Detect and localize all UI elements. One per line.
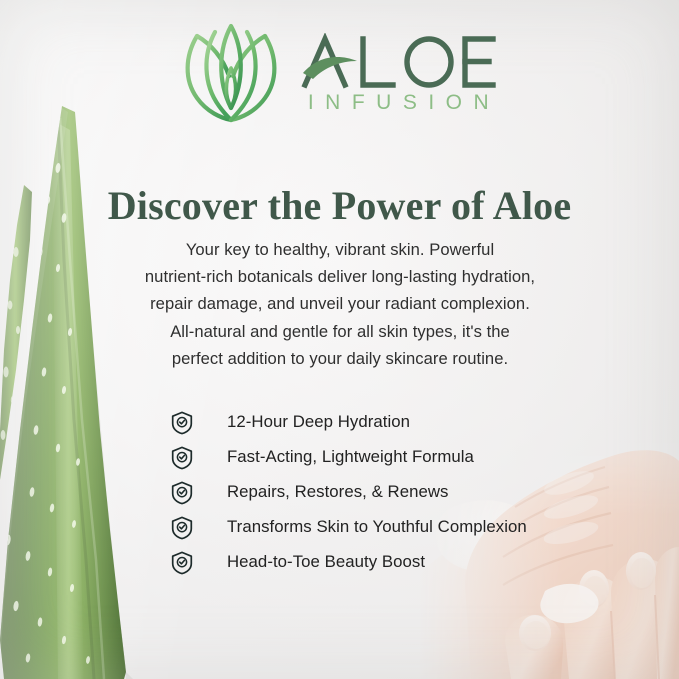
list-item: 12-Hour Deep Hydration xyxy=(171,405,527,440)
shield-check-icon xyxy=(171,516,193,540)
shield-check-icon xyxy=(171,446,193,470)
page-title: Discover the Power of Aloe xyxy=(0,183,679,229)
aloe-lotus-leaf-icon xyxy=(179,22,283,124)
list-item: Transforms Skin to Youthful Complexion xyxy=(171,510,527,545)
description-paragraph: Your key to healthy, vibrant skin. Power… xyxy=(100,236,580,372)
list-item-label: 12-Hour Deep Hydration xyxy=(227,414,410,431)
list-item: Repairs, Restores, & Renews xyxy=(171,475,527,510)
paragraph-line: Your key to healthy, vibrant skin. Power… xyxy=(100,236,580,263)
feature-list: 12-Hour Deep Hydration Fast-Acting, Ligh… xyxy=(171,405,527,580)
paragraph-line: nutrient-rich botanicals deliver long-la… xyxy=(100,263,580,290)
advertisement-banner: INFUSION Discover the Power of Aloe Your… xyxy=(0,0,679,679)
shield-check-icon xyxy=(171,481,193,505)
shield-check-icon xyxy=(171,411,193,435)
paragraph-line: repair damage, and unveil your radiant c… xyxy=(100,290,580,317)
paragraph-line: perfect addition to your daily skincare … xyxy=(100,345,580,372)
shield-check-icon xyxy=(171,551,193,575)
brand-wordmark: INFUSION xyxy=(297,33,500,113)
list-item: Fast-Acting, Lightweight Formula xyxy=(171,440,527,475)
list-item-label: Head-to-Toe Beauty Boost xyxy=(227,554,425,571)
list-item-label: Fast-Acting, Lightweight Formula xyxy=(227,449,474,466)
brand-logo: INFUSION xyxy=(0,22,679,124)
brand-subtitle: INFUSION xyxy=(297,92,500,113)
brand-name-aloe xyxy=(301,33,497,89)
list-item: Head-to-Toe Beauty Boost xyxy=(171,545,527,580)
list-item-label: Repairs, Restores, & Renews xyxy=(227,484,448,501)
paragraph-line: All-natural and gentle for all skin type… xyxy=(100,318,580,345)
list-item-label: Transforms Skin to Youthful Complexion xyxy=(227,519,527,536)
